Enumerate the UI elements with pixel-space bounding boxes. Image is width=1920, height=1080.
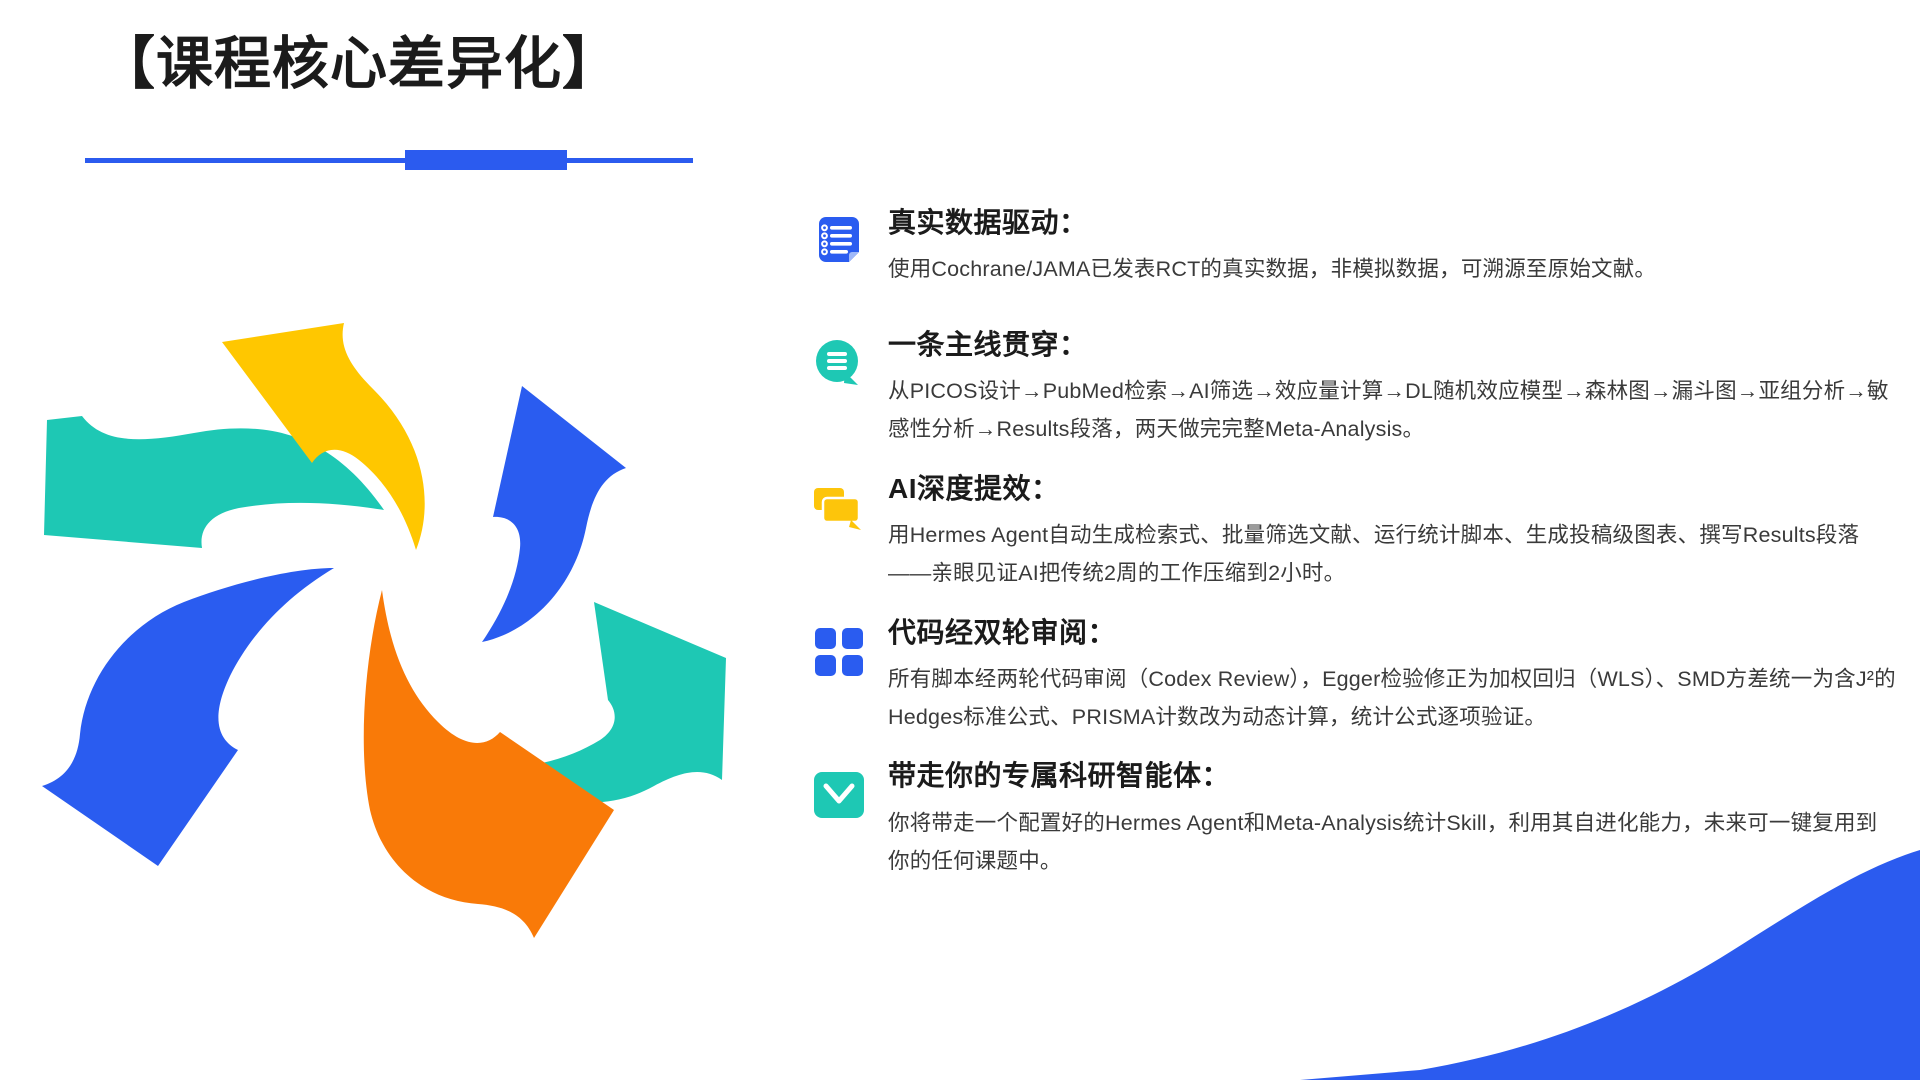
list-item-text: 从PICOS设计→PubMed检索→AI筛选→效应量计算→DL随机效应模型→森林… — [888, 372, 1898, 449]
list-item-text: 使用Cochrane/JAMA已发表RCT的真实数据，非模拟数据，可溯源至原始文… — [888, 250, 1898, 288]
page-title: 【课程核心差异化】 — [98, 30, 718, 98]
envelope-chevron-icon — [808, 764, 870, 826]
notepad-checklist-icon — [808, 211, 870, 273]
list-item-heading: AI深度提效： — [888, 471, 1898, 507]
list-item: 代码经双轮审阅： 所有脚本经两轮代码审阅（Codex Review），Egger… — [808, 615, 1898, 737]
list-item-heading: 真实数据驱动： — [888, 205, 1898, 241]
list-item: 真实数据驱动： 使用Cochrane/JAMA已发表RCT的真实数据，非模拟数据… — [808, 205, 1898, 289]
title-underline-accent — [405, 150, 567, 170]
list-item-body: 代码经双轮审阅： 所有脚本经两轮代码审阅（Codex Review），Egger… — [888, 615, 1898, 737]
list-item-text: 用Hermes Agent自动生成检索式、批量筛选文献、运行统计脚本、生成投稿级… — [888, 516, 1898, 593]
list-item-text: 你将带走一个配置好的Hermes Agent和Meta-Analysis统计Sk… — [888, 804, 1898, 881]
petal-blue-lower-left — [42, 568, 334, 866]
list-item: 带走你的专属科研智能体： 你将带走一个配置好的Hermes Agent和Meta… — [808, 758, 1898, 880]
list-item-heading: 带走你的专属科研智能体： — [888, 758, 1898, 794]
chat-bubbles-icon — [808, 477, 870, 539]
feature-list: 真实数据驱动： 使用Cochrane/JAMA已发表RCT的真实数据，非模拟数据… — [808, 205, 1898, 880]
list-item-body: AI深度提效： 用Hermes Agent自动生成检索式、批量筛选文献、运行统计… — [888, 471, 1898, 593]
speech-bubble-lines-icon — [808, 333, 870, 395]
list-item-body: 一条主线贯穿： 从PICOS设计→PubMed检索→AI筛选→效应量计算→DL随… — [888, 327, 1898, 449]
list-item-heading: 一条主线贯穿： — [888, 327, 1898, 363]
title-block: 【课程核心差异化】 — [98, 30, 718, 98]
title-underline-rule — [85, 158, 693, 163]
list-item-body: 带走你的专属科研智能体： 你将带走一个配置好的Hermes Agent和Meta… — [888, 758, 1898, 880]
list-item-body: 真实数据驱动： 使用Cochrane/JAMA已发表RCT的真实数据，非模拟数据… — [888, 205, 1898, 289]
list-item: 一条主线贯穿： 从PICOS设计→PubMed检索→AI筛选→效应量计算→DL随… — [808, 327, 1898, 449]
list-item: AI深度提效： 用Hermes Agent自动生成检索式、批量筛选文献、运行统计… — [808, 471, 1898, 593]
pinwheel-graphic — [34, 320, 774, 960]
list-item-text: 所有脚本经两轮代码审阅（Codex Review），Egger检验修正为加权回归… — [888, 660, 1898, 737]
list-item-heading: 代码经双轮审阅： — [888, 615, 1898, 651]
slide-canvas: 【课程核心差异化】 — [0, 0, 1920, 1080]
petal-blue-upper-right — [482, 386, 626, 642]
corner-wave-decoration — [1300, 850, 1920, 1080]
grid-four-squares-icon — [808, 621, 870, 683]
